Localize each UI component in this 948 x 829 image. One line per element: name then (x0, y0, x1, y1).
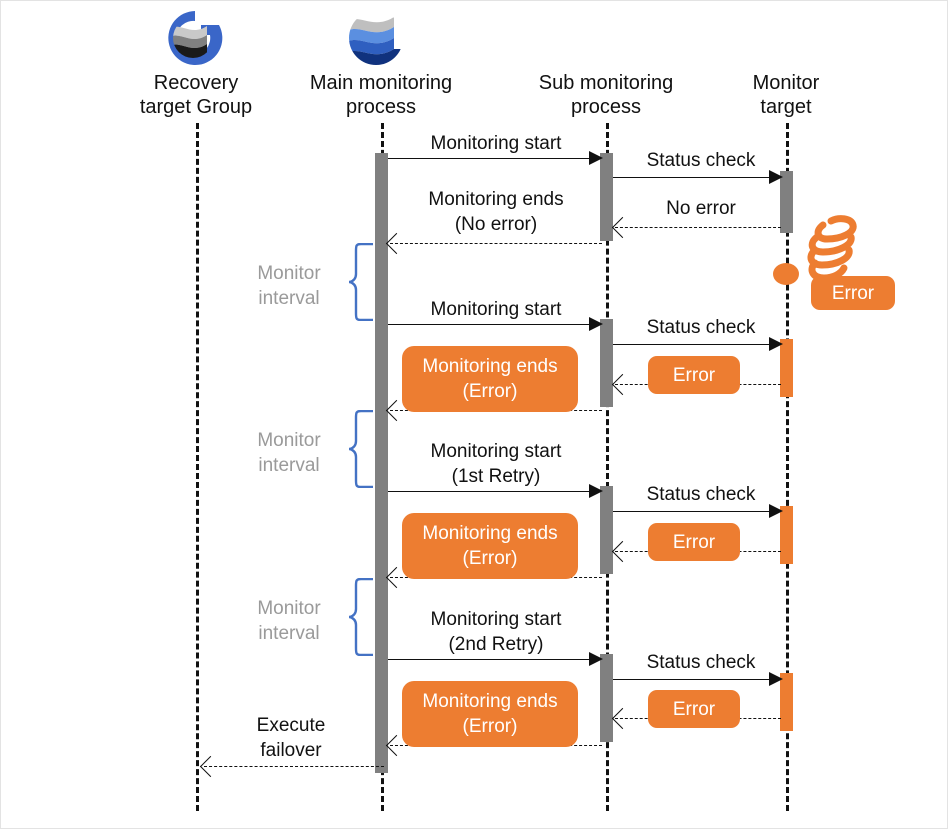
message-label-status-check-4: Status check (615, 650, 787, 675)
arrowhead-status-check-4 (769, 672, 783, 686)
message-label-monitoring-ends-no-error: Monitoring ends (No error) (390, 187, 602, 237)
interval-label-2: Monitor interval (233, 428, 345, 478)
error-badge-monitor-target: Error (811, 276, 895, 310)
g-globe-logo-icon (161, 7, 229, 74)
message-arrow-monitoring-start-2 (388, 324, 593, 325)
message-label-monitoring-start-1: Monitoring start (390, 131, 602, 156)
arrowhead-error-4 (612, 708, 633, 729)
message-arrow-monitoring-ends-no-error (390, 243, 602, 244)
interval-brace-3-icon (349, 578, 375, 661)
message-arrow-monitoring-start-retry1 (388, 491, 593, 492)
lifeline-header-recovery-target-group: Recovery target Group (96, 71, 296, 119)
arrowhead-monitoring-start-2 (589, 317, 603, 331)
message-label-status-check-1: Status check (615, 148, 787, 173)
message-label-monitoring-start-retry1: Monitoring start (1st Retry) (390, 439, 602, 489)
globe-logo-icon (342, 7, 410, 74)
activation-bar-sub-monitoring-3 (600, 486, 613, 574)
lifeline-header-monitor-target: Monitor target (706, 71, 866, 119)
monitoring-ends-error-box-4: Monitoring ends (Error) (402, 681, 578, 747)
message-arrow-monitoring-start-1 (388, 158, 593, 159)
arrowhead-status-check-3 (769, 504, 783, 518)
monitoring-ends-error-box-2: Monitoring ends (Error) (402, 346, 578, 412)
message-arrow-status-check-3 (613, 511, 775, 512)
error-box-sub-monitoring-3: Error (648, 523, 740, 561)
sequence-diagram-canvas: Recovery target Group Main monitoring pr… (0, 0, 948, 829)
message-label-monitoring-start-retry2: Monitoring start (2nd Retry) (390, 607, 602, 657)
arrowhead-monitoring-start-retry1 (589, 484, 603, 498)
message-label-execute-failover: Execute failover (206, 713, 376, 763)
arrowhead-monitoring-start-1 (589, 151, 603, 165)
message-arrow-status-check-4 (613, 679, 775, 680)
message-arrow-status-check-2 (613, 344, 775, 345)
activation-bar-sub-monitoring-2 (600, 319, 613, 407)
message-arrow-execute-failover (204, 766, 384, 767)
error-marker-dot-icon (773, 263, 799, 285)
monitoring-ends-error-box-3: Monitoring ends (Error) (402, 513, 578, 579)
lifeline-header-main-monitoring-process: Main monitoring process (281, 71, 481, 119)
activation-bar-sub-monitoring-4 (600, 654, 613, 742)
error-box-sub-monitoring-4: Error (648, 690, 740, 728)
lifeline-header-sub-monitoring-process: Sub monitoring process (506, 71, 706, 119)
arrowhead-status-check-2 (769, 337, 783, 351)
arrowhead-error-2 (612, 374, 633, 395)
message-label-no-error: No error (615, 196, 787, 221)
interval-brace-1-icon (349, 243, 375, 326)
interval-label-3: Monitor interval (233, 596, 345, 646)
interval-brace-2-icon (349, 410, 375, 493)
message-arrow-status-check-1 (613, 177, 775, 178)
error-box-sub-monitoring-2: Error (648, 356, 740, 394)
message-arrow-no-error (615, 227, 781, 228)
message-label-status-check-2: Status check (615, 315, 787, 340)
arrowhead-status-check-1 (769, 170, 783, 184)
message-label-monitoring-start-2: Monitoring start (390, 297, 602, 322)
message-label-status-check-3: Status check (615, 482, 787, 507)
lifeline-recovery-target-group (196, 123, 199, 811)
arrowhead-error-3 (612, 541, 633, 562)
message-arrow-monitoring-start-retry2 (388, 659, 593, 660)
activation-bar-main-monitoring-process (375, 153, 388, 773)
interval-label-1: Monitor interval (233, 261, 345, 311)
arrowhead-monitoring-start-retry2 (589, 652, 603, 666)
